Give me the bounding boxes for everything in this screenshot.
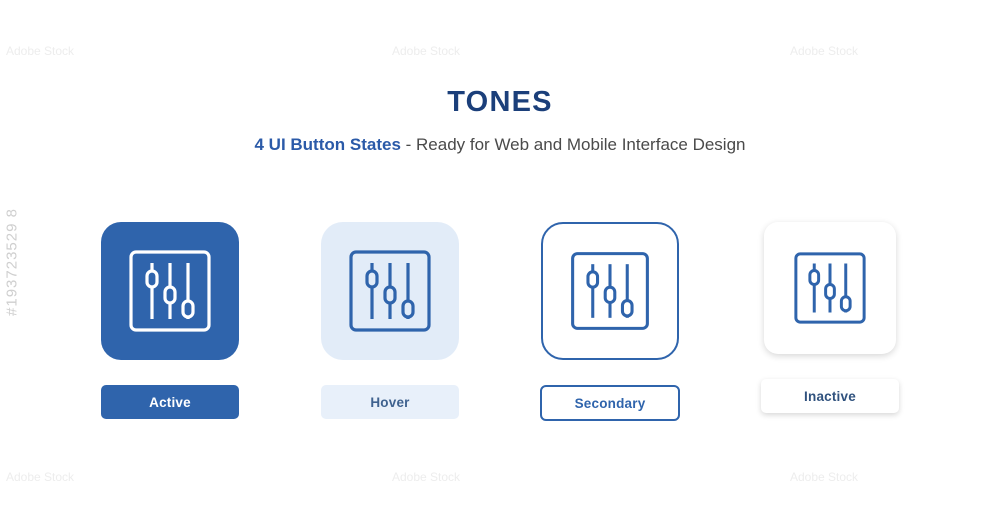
sliders-equalizer-icon [342, 243, 438, 339]
watermark-tile: Adobe Stock [6, 44, 74, 58]
state-hover: Hover [290, 222, 490, 419]
state-label-active[interactable]: Active [101, 385, 239, 419]
sliders-equalizer-icon [788, 246, 872, 330]
sliders-equalizer-icon [564, 245, 656, 337]
watermark-tile: Adobe Stock [790, 470, 858, 484]
icon-tile-hover[interactable] [321, 222, 459, 360]
state-secondary: Secondary [510, 222, 710, 421]
watermark-tile: Adobe Stock [392, 44, 460, 58]
watermark-tile: Adobe Stock [6, 470, 74, 484]
page-title: TONES [0, 86, 1000, 119]
state-label-inactive[interactable]: Inactive [761, 379, 899, 413]
button-states-row: Active Hover [0, 222, 1000, 442]
state-label-secondary[interactable]: Secondary [540, 385, 680, 421]
page-subtitle: 4 UI Button States - Ready for Web and M… [0, 135, 1000, 155]
state-active: Active [70, 222, 270, 419]
state-label-hover[interactable]: Hover [321, 385, 459, 419]
icon-tile-inactive[interactable] [764, 222, 896, 354]
state-inactive: Inactive [730, 222, 930, 413]
sliders-equalizer-icon [122, 243, 218, 339]
icon-tile-secondary[interactable] [541, 222, 679, 360]
watermark-tile: Adobe Stock [790, 44, 858, 58]
page-subtitle-rest: - Ready for Web and Mobile Interface Des… [401, 135, 746, 154]
page-subtitle-strong: 4 UI Button States [255, 135, 401, 154]
watermark-tile: Adobe Stock [392, 470, 460, 484]
icon-tile-active[interactable] [101, 222, 239, 360]
